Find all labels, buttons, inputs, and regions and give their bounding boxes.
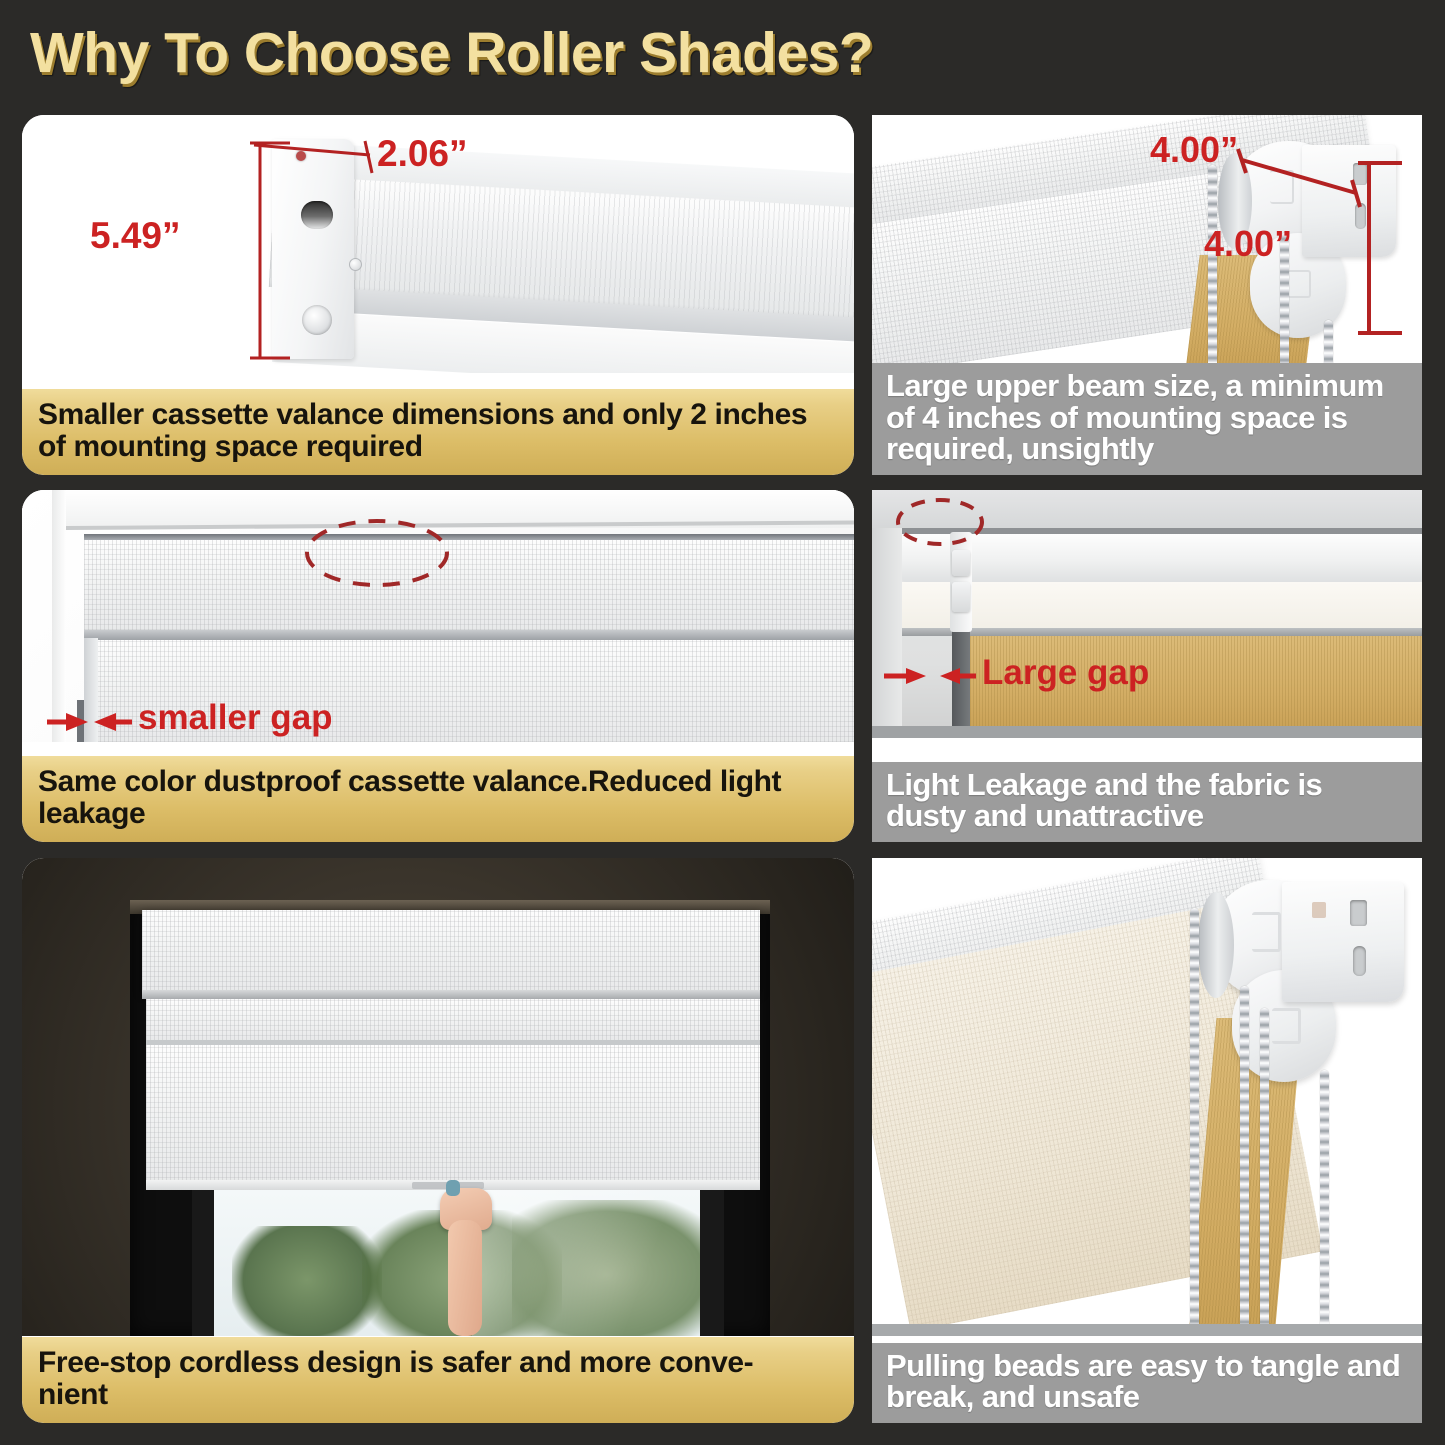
bracket-emboss-bottom <box>1272 1008 1301 1044</box>
ceiling-surface <box>872 490 1422 532</box>
valance-bottom-rail <box>84 630 854 640</box>
panel-row1-left-caption: Smaller cassette valance dimensions and … <box>22 389 854 475</box>
valance-screw-top <box>296 151 306 161</box>
valance-face <box>84 540 854 630</box>
panel-row1-left-image: 2.06” 5.49” <box>22 115 854 373</box>
bracket-emboss-top <box>1252 912 1281 952</box>
bead-chain-inner <box>1260 1008 1269 1336</box>
valance-screw-bottom <box>302 305 332 335</box>
cassette-valance <box>142 910 760 992</box>
fabric-left-edge <box>84 638 98 742</box>
dimension-label-height: 5.49” <box>90 215 181 257</box>
bead-chain-middle <box>1240 986 1249 1336</box>
floor-strip <box>872 726 1422 738</box>
dimension-label-width: 4.00” <box>1150 129 1238 171</box>
page-title: Why To Choose Roller Shades? <box>30 20 873 86</box>
panel-row1-left: 2.06” 5.49” Smaller cassette valance dim… <box>22 115 854 475</box>
dimension-label-height: 4.00” <box>1204 223 1292 265</box>
dimension-label-width: 2.06” <box>377 133 468 175</box>
panel-row3-left: Free-stop cordless design is safer and m… <box>22 858 854 1423</box>
panel-row1-right: 4.00” 4.00” Large upper beam size, a min… <box>872 115 1422 475</box>
floor-strip <box>872 1324 1422 1336</box>
panel-row3-right: Pulling beads are easy to tangle and bre… <box>872 858 1422 1423</box>
valance-rail <box>142 990 760 999</box>
valance-screw-side <box>349 258 362 271</box>
window-mullion-left <box>192 1190 214 1336</box>
infographic-root: Why To Choose Roller Shades? <box>0 0 1445 1445</box>
bracket-wall-plate <box>1302 145 1396 257</box>
light-gap <box>952 630 970 738</box>
shade-pull-tab <box>446 1180 460 1196</box>
panel-row3-right-caption: Pulling beads are easy to tangle and bre… <box>872 1343 1422 1423</box>
panel-row1-right-image: 4.00” 4.00” <box>872 115 1422 370</box>
glass-reflection <box>472 1190 702 1336</box>
bead-chain-front <box>1190 908 1199 1336</box>
bead-chain-left <box>1208 165 1217 370</box>
roller-tube <box>902 534 1422 582</box>
shade-fabric <box>146 1045 760 1183</box>
panel-row2-left-caption: Same color dustproof cassette valance.Re… <box>22 756 854 842</box>
window-mullion-right <box>700 1190 724 1336</box>
light-gap <box>77 700 84 742</box>
bracket-screw-hole <box>1312 902 1326 918</box>
caption-line-1: Free-stop cordless design is safer and m… <box>38 1347 838 1379</box>
bracket-clip-upper <box>952 550 970 576</box>
tree-left <box>232 1226 382 1336</box>
panel-row3-left-caption: Free-stop cordless design is safer and m… <box>22 1337 854 1423</box>
panel-row2-left: smaller gap Same color dustproof cassett… <box>22 490 854 842</box>
panel-row3-right-image <box>872 858 1422 1336</box>
bracket-emboss-bottom <box>1287 270 1311 298</box>
valance-bracket-slot <box>301 201 333 229</box>
bracket-slot-lower <box>1353 946 1366 976</box>
panel-row1-right-caption: Large upper beam size, a minimum of 4 in… <box>872 363 1422 475</box>
upper-fabric-band <box>902 582 1422 630</box>
bracket-wall-plate <box>1282 882 1404 1002</box>
bracket-emboss-top <box>1270 170 1294 204</box>
panel-row2-right: Large gap Light Leakage and the fabric i… <box>872 490 1422 842</box>
panel-row3-left-image <box>22 858 854 1336</box>
tube-end-ring <box>1198 892 1234 998</box>
wall-left <box>872 528 902 738</box>
caption-line-2: nient <box>38 1379 838 1411</box>
valance-lower-band <box>146 999 760 1041</box>
bracket-slot-upper <box>1350 900 1367 926</box>
bracket-clip-lower <box>952 582 970 612</box>
forearm <box>448 1220 482 1336</box>
bottom-rail <box>902 628 1422 636</box>
panel-row2-right-image: Large gap <box>872 490 1422 738</box>
bead-chain-rear <box>1320 1070 1329 1336</box>
gap-callout-label: Large gap <box>982 653 1149 693</box>
frame-casing-vertical <box>52 490 66 742</box>
panel-row2-right-caption: Light Leakage and the fabric is dusty an… <box>872 762 1422 842</box>
gap-callout-label: smaller gap <box>138 698 333 738</box>
bracket-slot-upper <box>1353 163 1367 185</box>
panel-row2-left-image: smaller gap <box>22 490 854 742</box>
bracket-slot-lower <box>1355 203 1366 229</box>
